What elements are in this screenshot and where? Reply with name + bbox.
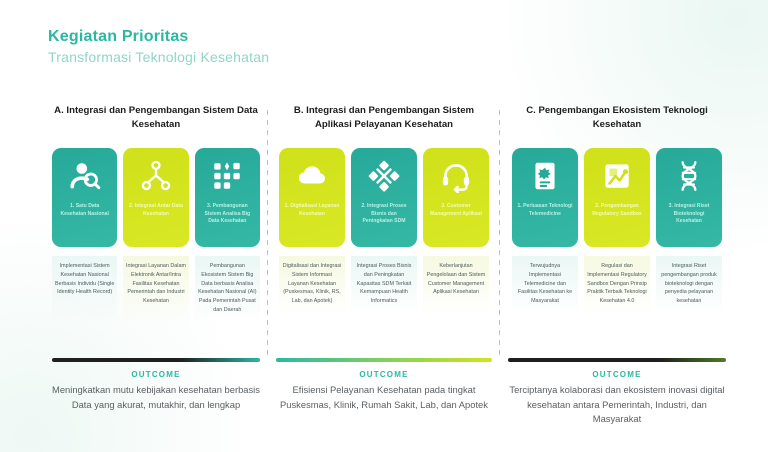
desc-c1: Terwujudnya Implementasi Telemedicine da… — [512, 256, 578, 314]
outcome-b-title: OUTCOME — [276, 370, 492, 379]
card-a2-label: 2. Integrasi Antar Data Kesehatan — [123, 203, 188, 218]
desc-c2: Regulasi dan Implementasi Regulatory San… — [584, 256, 650, 314]
outcome-c-title: OUTCOME — [508, 370, 726, 379]
desc-b1: Digitalisasi dan Integrasi Sistem Inform… — [279, 256, 345, 314]
column-c-heading: C. Pengembangan Ekosistem Teknologi Kese… — [508, 104, 726, 138]
network-share-icon — [139, 159, 173, 193]
column-b-descriptions: Digitalisasi dan Integrasi Sistem Inform… — [276, 256, 492, 314]
outcome-c: OUTCOME Terciptanya kolaborasi dan ekosi… — [500, 358, 734, 427]
user-search-icon — [68, 159, 102, 193]
column-a-descriptions: Implementasi Sistem Kesehatan Nasional B… — [52, 256, 260, 323]
card-a1-label: 1. Satu Data Kesehatan Nasional — [52, 203, 117, 218]
card-b1[interactable]: 1. Digitalisasi Layanan Kesehatan — [279, 148, 345, 247]
column-b-heading: B. Integrasi dan Pengembangan Sistem Apl… — [276, 104, 492, 138]
card-c3[interactable]: 3. Integrasi Riset Bioteknologi Kesehata… — [656, 148, 722, 247]
desc-b2: Integrasi Proses Bisnis dan Peningkatan … — [351, 256, 417, 314]
header: Kegiatan Prioritas Transformasi Teknolog… — [48, 28, 269, 65]
card-c2[interactable]: 2. Pengembangan Regulatory Sandbox — [584, 148, 650, 247]
column-b-cards: 1. Digitalisasi Layanan Kesehatan 2. Int… — [276, 148, 492, 247]
card-b1-label: 1. Digitalisasi Layanan Kesehatan — [279, 203, 345, 218]
outcome-a-text: Meningkatkan mutu kebijakan kesehatan be… — [52, 383, 260, 412]
outcome-b-bar — [276, 358, 492, 362]
desc-c3: Integrasi Riset pengembangan produk biot… — [656, 256, 722, 314]
card-a3-label: 3. Pembangunan Sistem Analisa Big Data K… — [195, 203, 260, 226]
column-b: B. Integrasi dan Pengembangan Sistem Apl… — [268, 104, 500, 323]
desc-a1: Implementasi Sistem Kesehatan Nasional B… — [52, 256, 117, 323]
dna-helix-icon — [672, 159, 706, 193]
medical-document-icon — [528, 159, 562, 193]
big-data-grid-icon — [210, 159, 244, 193]
cloud-icon — [295, 159, 329, 193]
card-a2[interactable]: 2. Integrasi Antar Data Kesehatan — [123, 148, 188, 247]
outcome-a-title: OUTCOME — [52, 370, 260, 379]
column-c-cards: 1. Perluasan Teknologi Telemedicine 2. P… — [508, 148, 726, 247]
page-title: Kegiatan Prioritas — [48, 28, 269, 46]
column-c: C. Pengembangan Ekosistem Teknologi Kese… — [500, 104, 734, 323]
column-a-heading: A. Integrasi dan Pengembangan Sistem Dat… — [52, 104, 260, 138]
infographic-page: Kegiatan Prioritas Transformasi Teknolog… — [0, 0, 768, 452]
column-c-descriptions: Terwujudnya Implementasi Telemedicine da… — [508, 256, 726, 314]
card-c1-label: 1. Perluasan Teknologi Telemedicine — [512, 203, 578, 218]
page-subtitle: Transformasi Teknologi Kesehatan — [48, 50, 269, 65]
diamond-network-icon — [367, 159, 401, 193]
outcome-c-text: Terciptanya kolaborasi dan ekosistem ino… — [508, 383, 726, 427]
card-a3[interactable]: 3. Pembangunan Sistem Analisa Big Data K… — [195, 148, 260, 247]
outcome-b: OUTCOME Efisiensi Pelayanan Kesehatan pa… — [268, 358, 500, 427]
card-c3-label: 3. Integrasi Riset Bioteknologi Kesehata… — [656, 203, 722, 226]
desc-a2: Integrasi Layanan Dalam Elektronik Antar… — [123, 256, 188, 323]
card-b3[interactable]: 3. Customer Management Aplikasi — [423, 148, 489, 247]
card-b2[interactable]: 2. Integrasi Proses Bisnis dan Peningkat… — [351, 148, 417, 247]
card-c1[interactable]: 1. Perluasan Teknologi Telemedicine — [512, 148, 578, 247]
outcome-b-text: Efisiensi Pelayanan Kesehatan pada tingk… — [276, 383, 492, 412]
desc-b3: Keberlanjutan Pengelolaan dan Sistem Cus… — [423, 256, 489, 314]
outcome-a: OUTCOME Meningkatkan mutu kebijakan kese… — [44, 358, 268, 427]
card-b2-label: 2. Integrasi Proses Bisnis dan Peningkat… — [351, 203, 417, 226]
card-a1[interactable]: 1. Satu Data Kesehatan Nasional — [52, 148, 117, 247]
outcome-c-bar — [508, 358, 726, 362]
outcomes-container: OUTCOME Meningkatkan mutu kebijakan kese… — [44, 358, 734, 427]
card-b3-label: 3. Customer Management Aplikasi — [423, 203, 489, 218]
headset-support-icon — [439, 159, 473, 193]
card-c2-label: 2. Pengembangan Regulatory Sandbox — [584, 203, 650, 218]
column-a: A. Integrasi dan Pengembangan Sistem Dat… — [44, 104, 268, 323]
columns-container: A. Integrasi dan Pengembangan Sistem Dat… — [44, 104, 734, 323]
outcome-a-bar — [52, 358, 260, 362]
column-a-cards: 1. Satu Data Kesehatan Nasional 2. Integ… — [52, 148, 260, 247]
chart-document-icon — [600, 159, 634, 193]
desc-a3: Pembangunan Ekosistem Sistem Big Data be… — [195, 256, 260, 323]
